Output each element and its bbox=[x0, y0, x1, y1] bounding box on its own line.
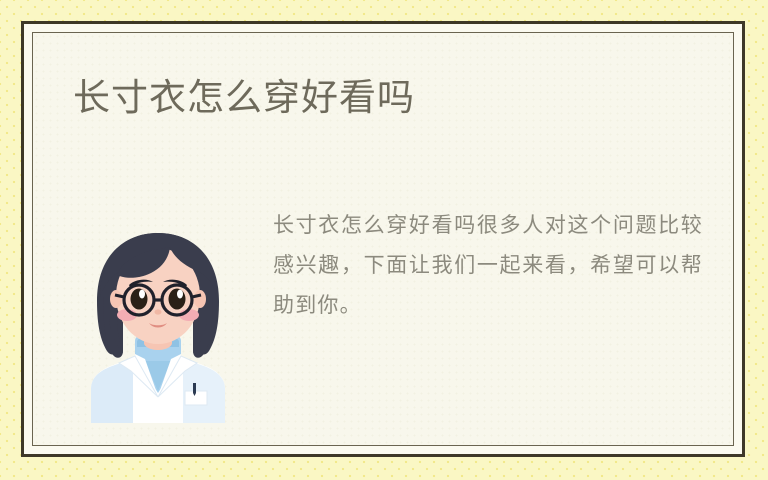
woman-in-lab-coat-avatar bbox=[73, 223, 243, 423]
article-content: 长寸衣怎么穿好看吗很多人对这个问题比较感兴趣，下面让我们一起来看，希望可以帮助到… bbox=[65, 205, 703, 423]
frame-inner-rule: 长寸衣怎么穿好看吗 bbox=[32, 32, 734, 446]
article-frame: 长寸衣怎么穿好看吗 bbox=[21, 21, 745, 457]
page-title: 长寸衣怎么穿好看吗 bbox=[73, 75, 415, 121]
article-body: 长寸衣怎么穿好看吗很多人对这个问题比较感兴趣，下面让我们一起来看，希望可以帮助到… bbox=[273, 205, 703, 325]
page-background: 长寸衣怎么穿好看吗 bbox=[0, 0, 768, 480]
